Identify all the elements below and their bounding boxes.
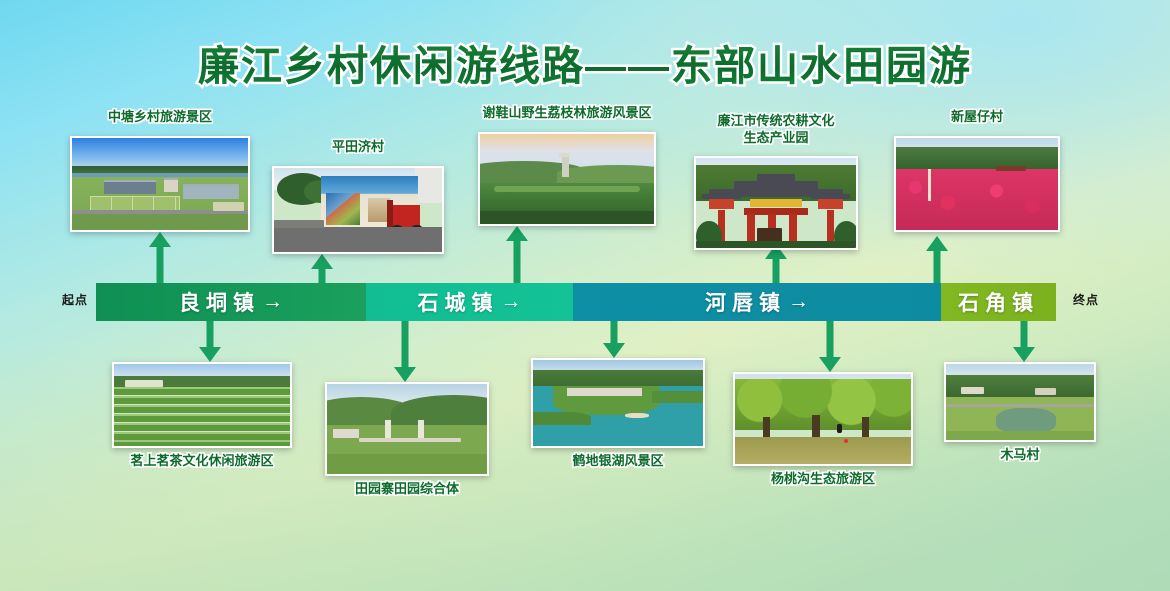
arrow-right-icon: → [262,290,283,314]
connector-up-pingtianji [310,254,334,284]
spot-photo-nonggeng [696,158,856,248]
spot-card-yangtaogou[interactable]: 杨桃沟生态旅游区 [733,372,913,466]
spot-card-xiexieshan[interactable]: 谢鞋山野生荔枝林旅游风景区 [478,132,656,226]
route-segment-label: 石城镇 [418,287,499,317]
route-end-label: 终点 [1073,291,1099,308]
connector-up-xinwuzai [925,236,949,284]
connector-up-zhongtang [148,232,172,284]
route-start-label: 起点 [62,291,88,308]
spot-caption-muma: 木马村 [964,446,1076,463]
spot-card-hedi[interactable]: 鹤地银湖风景区 [531,358,705,448]
route-segment-label: 河唇镇 [705,287,786,317]
connector-up-xiexieshan [505,226,529,284]
spot-photo-pingtianji [274,168,442,252]
spot-photo-mingshangming [114,364,290,446]
spot-caption-mingshangming: 茗上茗茶文化休闲旅游区 [108,452,296,469]
spot-card-tianyuanzhai[interactable]: 田园寨田园综合体 [325,382,489,476]
spot-caption-pingtianji: 平田济村 [288,138,428,155]
spot-card-mingshangming[interactable]: 茗上茗茶文化休闲旅游区 [112,362,292,448]
spot-photo-zhongtang [72,138,248,230]
spot-photo-hedi [533,360,703,446]
spot-caption-nonggeng-line2: 生态产业园 [676,129,876,146]
arrow-down-icon [819,357,841,372]
spot-caption-hedi: 鹤地银湖风景区 [553,452,683,469]
route-segment-shicheng[interactable]: 石城镇 → [366,283,573,321]
connector-down-mingshangming [198,320,222,362]
spot-card-muma[interactable]: 木马村 [944,362,1096,442]
connector-up-nonggeng [764,244,788,284]
route-segment-shijiao[interactable]: 石角镇 [941,283,1056,321]
arrow-down-icon [199,347,221,362]
spot-photo-xiexieshan [480,134,654,224]
spot-caption-xiexieshan: 谢鞋山野生荔枝林旅游风景区 [466,104,668,121]
spot-card-nonggeng[interactable]: 廉江市传统农耕文化 生态产业园 [694,156,858,250]
arrow-right-icon: → [501,290,522,314]
route-bar: 良垌镇 → 石城镇 → 河唇镇 → 石角镇 [96,283,1056,321]
spot-caption-yangtaogou: 杨桃沟生态旅游区 [733,470,913,487]
arrow-right-icon: → [788,290,809,314]
poster-canvas: 廉江乡村休闲游线路——东部山水田园游 廉江乡村休闲游线路——东部山水田园游 起点… [0,0,1170,591]
arrow-down-icon [394,367,416,382]
connector-down-muma [1012,320,1036,362]
route-segment-hechun[interactable]: 河唇镇 → [573,283,941,321]
spot-caption-nonggeng-line1: 廉江市传统农耕文化 [676,112,876,129]
spot-card-zhongtang[interactable]: 中塘乡村旅游景区 [70,136,250,232]
route-segment-label: 石角镇 [958,287,1039,317]
spot-photo-xinwuzai [896,138,1058,230]
page-title: 廉江乡村休闲游线路——东部山水田园游 [0,32,1170,92]
connector-down-hedi [602,320,626,358]
route-segment-label: 良垌镇 [179,287,260,317]
spot-photo-tianyuanzhai [327,384,487,474]
spot-photo-muma [946,364,1094,440]
spot-card-pingtianji[interactable]: 平田济村 [272,166,444,254]
connector-down-yangtaogou [818,320,842,372]
arrow-down-icon [1013,347,1035,362]
connector-down-tianyuanzhai [393,320,417,382]
spot-caption-zhongtang: 中塘乡村旅游景区 [62,108,258,125]
spot-caption-tianyuanzhai: 田园寨田园综合体 [311,480,503,497]
spot-caption-xinwuzai: 新屋仔村 [921,108,1033,125]
route-segment-liangtong[interactable]: 良垌镇 → [96,283,366,321]
spot-photo-yangtaogou [735,374,911,464]
spot-card-xinwuzai[interactable]: 新屋仔村 [894,136,1060,232]
arrow-down-icon [603,343,625,358]
